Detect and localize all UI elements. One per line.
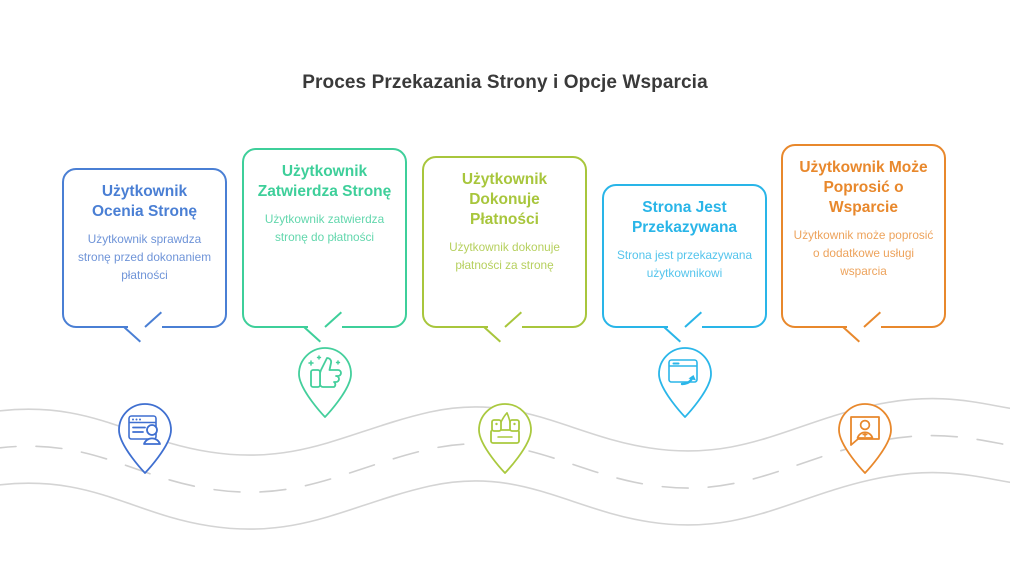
step-card-4-title: Strona Jest Przekazywana xyxy=(614,198,755,238)
support-person-chat-icon xyxy=(834,399,896,475)
step-card-2-description: Użytkownik zatwierdza stronę do płatnośc… xyxy=(254,211,395,246)
step-card-3[interactable]: Użytkownik Dokonuje Płatności Użytkownik… xyxy=(422,156,587,328)
road-edge-bottom xyxy=(0,473,1010,530)
payment-terminal-icon xyxy=(474,399,536,475)
infographic-canvas: Proces Przekazania Strony i Opcje Wsparc… xyxy=(0,0,1010,566)
step-card-1[interactable]: Użytkownik Ocenia Stronę Użytkownik spra… xyxy=(62,168,227,328)
step-card-5-title: Użytkownik Może Poprosić o Wsparcie xyxy=(793,158,934,218)
step-card-2-title: Użytkownik Zatwierdza Stronę xyxy=(254,162,395,202)
step-pin-5[interactable] xyxy=(834,399,896,475)
thumbs-up-sparkle-icon xyxy=(294,343,356,419)
browser-transfer-arrow-icon xyxy=(654,343,716,419)
step-card-4[interactable]: Strona Jest Przekazywana Strona jest prz… xyxy=(602,184,767,328)
step-pin-3[interactable] xyxy=(474,399,536,475)
step-card-2[interactable]: Użytkownik Zatwierdza Stronę Użytkownik … xyxy=(242,148,407,328)
step-card-4-description: Strona jest przekazywana użytkownikowi xyxy=(614,247,755,282)
browser-profile-icon xyxy=(114,399,176,475)
step-card-3-description: Użytkownik dokonuje płatności za stronę xyxy=(434,239,575,274)
step-card-5[interactable]: Użytkownik Może Poprosić o Wsparcie Użyt… xyxy=(781,144,946,328)
step-pin-4[interactable] xyxy=(654,343,716,419)
step-pin-1[interactable] xyxy=(114,399,176,475)
step-card-5-description: Użytkownik może poprosić o dodatkowe usł… xyxy=(793,227,934,280)
step-pin-2[interactable] xyxy=(294,343,356,419)
step-card-3-title: Użytkownik Dokonuje Płatności xyxy=(434,170,575,230)
step-card-1-title: Użytkownik Ocenia Stronę xyxy=(74,182,215,222)
step-card-1-description: Użytkownik sprawdza stronę przed dokonan… xyxy=(74,231,215,284)
